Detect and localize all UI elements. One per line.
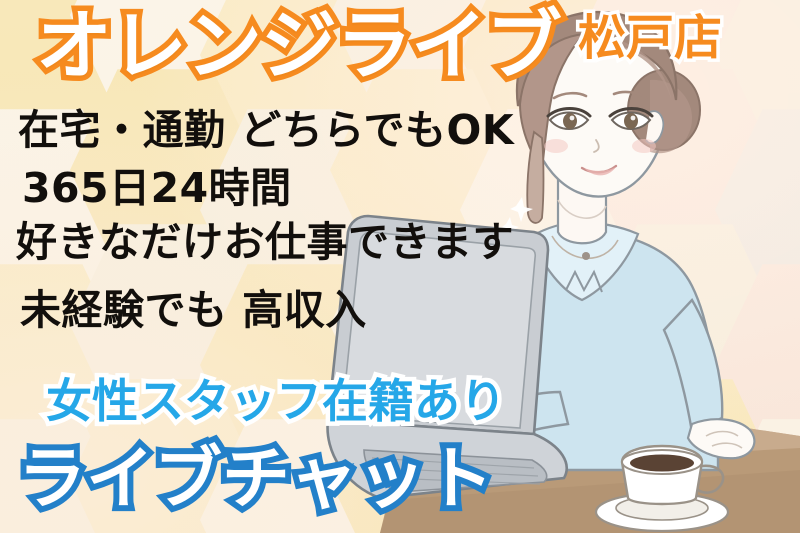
feature-line-3: 好きなだけお仕事できます bbox=[16, 222, 514, 263]
shop-name-badge: 松戸店 bbox=[578, 14, 722, 62]
page-title: オレンジライブ bbox=[36, 8, 561, 84]
feature-line-4: 未経験でも 高収入 bbox=[20, 290, 367, 331]
promo-banner: こち街 ワーク KOCHIMACHI WORK bbox=[0, 0, 800, 533]
female-staff-highlight: 女性スタッフ在籍あり bbox=[46, 378, 506, 424]
feature-line-1: 在宅・通勤 どちらでもOK bbox=[18, 110, 514, 151]
live-chat-headline: ライブチャット bbox=[18, 446, 493, 514]
feature-line-2: 365日24時間 bbox=[22, 168, 292, 209]
